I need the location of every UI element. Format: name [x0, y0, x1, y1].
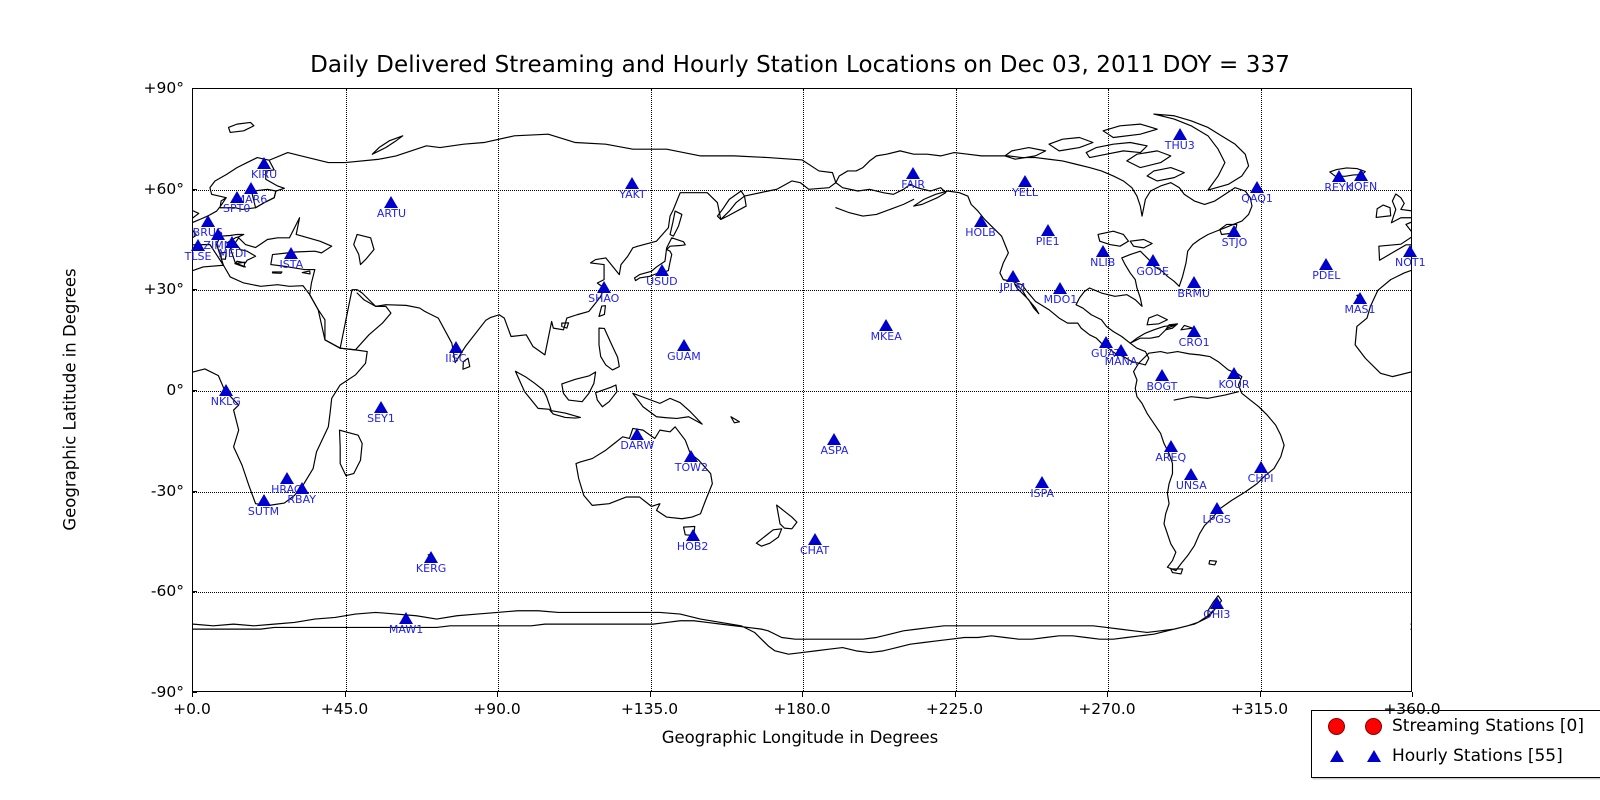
x-tick: [345, 692, 346, 697]
legend-hourly-markers: [1318, 750, 1392, 762]
coastline-path: [756, 529, 781, 546]
coastline-path: [1324, 263, 1326, 264]
x-tick-label: +0.0: [173, 700, 211, 718]
y-tick-label: 0°: [166, 381, 184, 399]
x-tick: [1412, 692, 1413, 697]
coastline-path: [836, 151, 1252, 365]
coastline-path: [1208, 596, 1222, 618]
coastline-path: [670, 211, 682, 236]
coastline-path: [1130, 325, 1176, 343]
coastline-path: [1174, 392, 1238, 400]
x-tick: [955, 692, 956, 697]
coastline-path: [1147, 315, 1167, 325]
coastline-path: [550, 410, 580, 418]
hourly-triangle-icon: [1330, 750, 1344, 762]
y-tick: [192, 692, 197, 693]
gridline-lat--60: [193, 592, 1411, 593]
y-tick: [192, 390, 197, 391]
hourly-triangle-icon: [1367, 750, 1381, 762]
coastline-path: [777, 505, 797, 529]
y-tick-label: -60°: [151, 582, 184, 600]
coastline-path: [1103, 124, 1157, 137]
coastline-path: [596, 385, 617, 407]
coastline-path: [1147, 168, 1184, 181]
x-tick-label: +180.0: [773, 700, 830, 718]
coastline-path: [884, 323, 887, 325]
gridline-lon-270: [1108, 89, 1109, 691]
coastline-path: [1209, 561, 1216, 565]
coastline-path: [1330, 168, 1366, 176]
y-tick-label: -90°: [151, 683, 184, 701]
coastline-path: [633, 393, 702, 424]
legend-label-hourly: Hourly Stations [55]: [1392, 746, 1563, 766]
coastline-path: [576, 427, 712, 519]
y-tick: [192, 88, 197, 89]
y-tick-label: +60°: [144, 180, 184, 198]
coastline-path: [252, 189, 276, 207]
coastline-path: [1379, 134, 1411, 362]
coastline-path: [599, 306, 605, 317]
coastline-path: [562, 372, 596, 402]
coastline-path: [1049, 137, 1093, 150]
y-tick-label: -30°: [151, 482, 184, 500]
gridline-lon-180: [803, 89, 804, 691]
x-tick-label: +225.0: [926, 700, 983, 718]
gridline-lat-0: [193, 391, 1411, 392]
coastline-path: [339, 430, 362, 475]
y-tick: [192, 591, 197, 592]
y-axis-title: Geographic Latitude in Degrees: [61, 140, 80, 660]
coastline-path: [354, 234, 374, 264]
coastline-path: [1130, 240, 1152, 248]
coastline-path: [193, 134, 836, 362]
coastline-path: [1355, 265, 1411, 505]
figure-canvas: Daily Delivered Streaming and Hourly Sta…: [0, 0, 1600, 800]
coastline-path: [221, 252, 226, 259]
x-tick: [802, 692, 803, 697]
x-tick-label: +90.0: [473, 700, 521, 718]
y-tick: [192, 289, 197, 290]
y-tick: [192, 189, 197, 190]
x-axis-title: Geographic Longitude in Degrees: [0, 728, 1600, 747]
map-plot-area[interactable]: KIRUMAR6SPT0BRUSZIMMTLSEMEDIISTAARTUYAKT…: [192, 88, 1412, 692]
coastline-path: [463, 358, 470, 369]
gridline-lon-45: [346, 89, 347, 691]
map-clip: [193, 89, 1411, 691]
coastline-path: [717, 191, 744, 219]
coastline-path: [210, 158, 269, 198]
coastline-path: [836, 199, 914, 216]
coastline-path: [599, 328, 619, 370]
coastline-path: [1181, 325, 1193, 329]
gridline-lat--30: [193, 492, 1411, 493]
y-tick-label: +90°: [144, 79, 184, 97]
chart-title: Daily Delivered Streaming and Hourly Sta…: [0, 52, 1600, 78]
y-tick: [192, 491, 197, 492]
gridline-lon-135: [651, 89, 652, 691]
coastline-path: [1098, 231, 1128, 246]
gridline-lon-90: [498, 89, 499, 691]
coastline-path: [635, 238, 686, 281]
x-tick-label: +360.0: [1383, 700, 1440, 718]
x-tick: [1107, 692, 1108, 697]
coastline-path: [731, 417, 739, 423]
coastline-path: [1376, 205, 1391, 217]
x-tick-label: +45.0: [321, 700, 369, 718]
world-coastline-map: [193, 89, 1411, 691]
y-tick-label: +30°: [144, 280, 184, 298]
gridline-lon-225: [956, 89, 957, 691]
x-tick: [650, 692, 651, 697]
coastline-path: [1391, 194, 1411, 223]
coastline-path: [684, 526, 695, 535]
gridline-lon-315: [1261, 89, 1262, 691]
coastline-path: [1134, 352, 1285, 571]
x-tick-label: +270.0: [1078, 700, 1135, 718]
coastline-path: [229, 122, 254, 132]
coastline-path: [428, 555, 431, 556]
coastline-path: [193, 265, 367, 505]
coastline-path: [340, 293, 391, 350]
x-tick-label: +135.0: [621, 700, 678, 718]
x-tick-label: +315.0: [1231, 700, 1288, 718]
coastline-path: [1014, 284, 1038, 314]
coastline-path: [1086, 143, 1147, 158]
gridline-lat-60: [193, 190, 1411, 191]
coastline-path: [1357, 295, 1360, 298]
coastline-path: [372, 136, 402, 154]
coastline-path: [273, 272, 282, 273]
coastline-path: [302, 271, 310, 274]
coastline-path: [1127, 151, 1171, 168]
x-tick: [1260, 692, 1261, 697]
gridline-lat-30: [193, 290, 1411, 291]
x-tick: [497, 692, 498, 697]
coastline-path: [193, 194, 199, 223]
